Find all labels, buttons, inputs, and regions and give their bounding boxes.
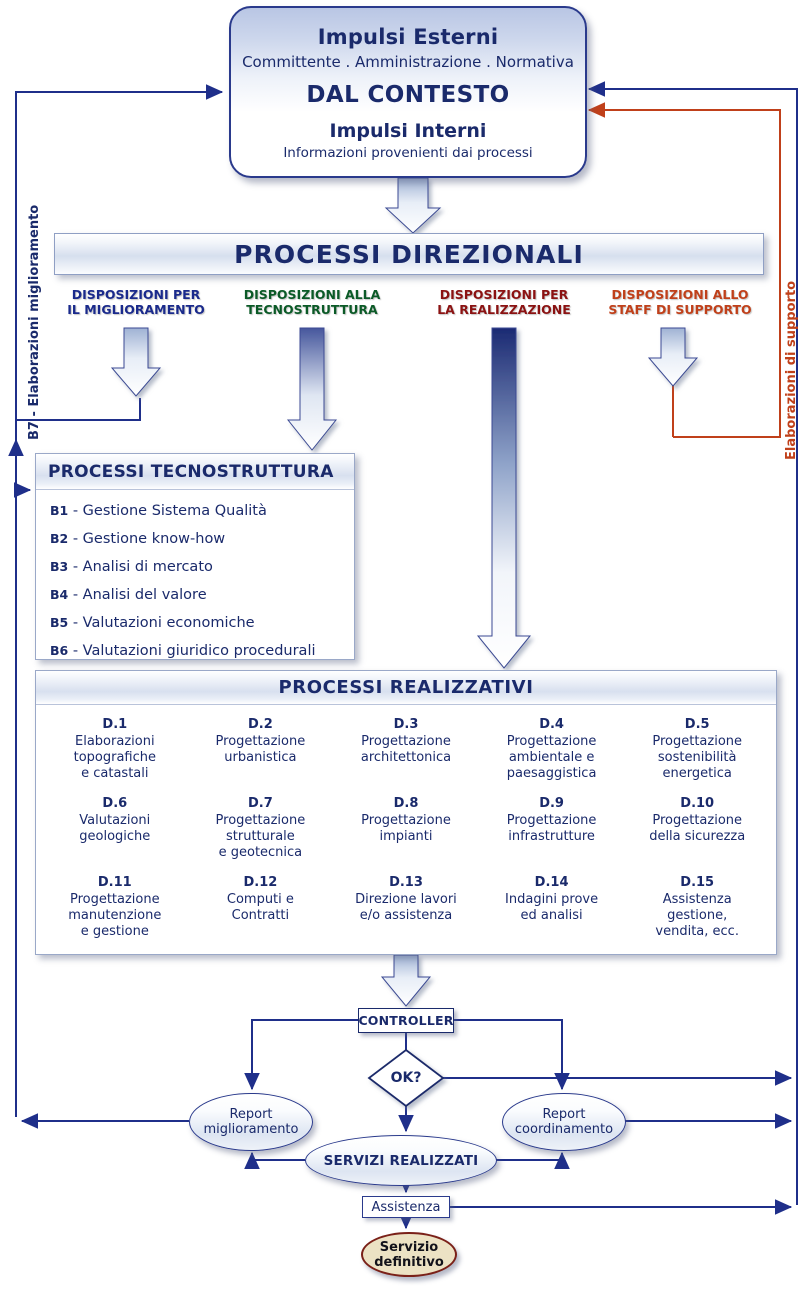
assistenza-node[interactable]: Assistenza bbox=[362, 1196, 450, 1218]
realizzativi-cell-label: Elaborazionitopografichee catastali bbox=[74, 734, 156, 781]
servizio-definitivo-label: Serviziodefinitivo bbox=[374, 1240, 444, 1270]
disposition-label-realizzazione: DISPOSIZIONI PER LA REALIZZAZIONE bbox=[420, 288, 588, 317]
report-miglioramento-label: Reportmiglioramento bbox=[204, 1107, 299, 1137]
internal-impulses-subtitle: Informazioni provenienti dai processi bbox=[231, 145, 585, 161]
realizzativi-cell-code: D.9 bbox=[481, 796, 623, 812]
realizzativi-cell-label: Progettazionedella sicurezza bbox=[649, 813, 745, 844]
servizio-definitivo-node[interactable]: Serviziodefinitivo bbox=[361, 1232, 457, 1277]
processi-realizzativi-box: PROCESSI REALIZZATIVI D.1Elaborazionitop… bbox=[35, 670, 777, 955]
tecnostruttura-item[interactable]: B2 - Gestione know-how bbox=[50, 525, 354, 553]
realizzativi-cell[interactable]: D.1Elaborazionitopografichee catastali bbox=[42, 713, 188, 792]
realizzativi-cell-label: Progettazionemanutenzionee gestione bbox=[68, 892, 161, 939]
report-coordinamento-label: Reportcoordinamento bbox=[515, 1107, 613, 1137]
decision-ok-label: OK? bbox=[369, 1050, 443, 1106]
realizzativi-cell[interactable]: D.10Progettazionedella sicurezza bbox=[624, 792, 770, 871]
realizzativi-cell-label: Progettazioneurbanistica bbox=[216, 734, 306, 765]
realizzativi-cell[interactable]: D.3Progettazionearchitettonica bbox=[333, 713, 479, 792]
controller-label: CONTROLLER bbox=[358, 1013, 453, 1028]
assistenza-label: Assistenza bbox=[372, 1200, 441, 1215]
tecnostruttura-item-code: B5 bbox=[50, 615, 68, 630]
tecnostruttura-item-code: B4 bbox=[50, 587, 68, 602]
realizzativi-cell-label: Indagini proveed analisi bbox=[505, 892, 598, 923]
report-miglioramento-node[interactable]: Reportmiglioramento bbox=[189, 1093, 313, 1151]
realizzativi-cell[interactable]: D.7Progettazionestrutturalee geotecnica bbox=[188, 792, 334, 871]
decision-ok-node[interactable]: OK? bbox=[369, 1050, 443, 1106]
realizzativi-cell[interactable]: D.11Progettazionemanutenzionee gestione bbox=[42, 871, 188, 950]
realizzativi-cell[interactable]: D.4Progettazioneambientale epaesaggistic… bbox=[479, 713, 625, 792]
servizi-realizzati-node[interactable]: SERVIZI REALIZZATI bbox=[305, 1135, 497, 1186]
realizzativi-cell[interactable]: D.5Progettazionesostenibilitàenergetica bbox=[624, 713, 770, 792]
disposition-label-staff-supporto: DISPOSIZIONI ALLO STAFF DI SUPPORTO bbox=[590, 288, 770, 317]
realizzativi-cell-code: D.11 bbox=[44, 875, 186, 891]
tecnostruttura-item-label: - Valutazioni giuridico procedurali bbox=[68, 643, 315, 659]
tecnostruttura-item-label: - Gestione Sistema Qualità bbox=[68, 503, 267, 519]
realizzativi-cell-code: D.14 bbox=[481, 875, 623, 891]
context-main-title: DAL CONTESTO bbox=[231, 82, 585, 108]
realizzativi-cell-code: D.12 bbox=[190, 875, 332, 891]
realizzativi-cell[interactable]: D.9Progettazioneinfrastrutture bbox=[479, 792, 625, 871]
realizzativi-cell-label: Progettazioneimpianti bbox=[361, 813, 451, 844]
realizzativi-cell-code: D.15 bbox=[626, 875, 768, 891]
realizzativi-cell-label: Progettazionesostenibilitàenergetica bbox=[652, 734, 742, 781]
processi-direzionali-title: PROCESSI DIREZIONALI bbox=[234, 240, 584, 269]
external-impulses-title: Impulsi Esterni bbox=[231, 25, 585, 49]
realizzativi-cell-label: Progettazionestrutturalee geotecnica bbox=[216, 813, 306, 860]
realizzativi-cell[interactable]: D.13Direzione lavorie/o assistenza bbox=[333, 871, 479, 950]
realizzativi-cell-code: D.4 bbox=[481, 717, 623, 733]
realizzativi-cell-label: Direzione lavorie/o assistenza bbox=[355, 892, 457, 923]
realizzativi-cell-label: Progettazioneinfrastrutture bbox=[507, 813, 597, 844]
realizzativi-cell-label: Valutazionigeologiche bbox=[79, 813, 150, 844]
realizzativi-cell-code: D.5 bbox=[626, 717, 768, 733]
tecnostruttura-item-code: B3 bbox=[50, 559, 68, 574]
report-coordinamento-node[interactable]: Reportcoordinamento bbox=[502, 1093, 626, 1151]
tecnostruttura-item-code: B2 bbox=[50, 531, 68, 546]
realizzativi-cell[interactable]: D.8Progettazioneimpianti bbox=[333, 792, 479, 871]
realizzativi-cell-code: D.2 bbox=[190, 717, 332, 733]
realizzativi-cell-code: D.6 bbox=[44, 796, 186, 812]
processi-direzionali-band: PROCESSI DIREZIONALI bbox=[54, 233, 764, 275]
left-loop-label: B7 - Elaborazioni miglioramento bbox=[27, 205, 42, 440]
disposition-label-tecnostruttura: DISPOSIZIONI ALLA TECNOSTRUTTURA bbox=[228, 288, 396, 317]
internal-impulses-title: Impulsi Interni bbox=[231, 120, 585, 142]
realizzativi-cell[interactable]: D.2Progettazioneurbanistica bbox=[188, 713, 334, 792]
realizzativi-cell[interactable]: D.15Assistenzagestione,vendita, ecc. bbox=[624, 871, 770, 950]
realizzativi-header: PROCESSI REALIZZATIVI bbox=[36, 671, 776, 705]
tecnostruttura-item[interactable]: B5 - Valutazioni economiche bbox=[50, 609, 354, 637]
realizzativi-cell[interactable]: D.14Indagini proveed analisi bbox=[479, 871, 625, 950]
realizzativi-cell-label: Progettazionearchitettonica bbox=[361, 734, 451, 765]
tecnostruttura-item-label: - Analisi del valore bbox=[68, 587, 206, 603]
realizzativi-cell-label: Computi eContratti bbox=[227, 892, 294, 923]
processi-tecnostruttura-box: PROCESSI TECNOSTRUTTURA B1 - Gestione Si… bbox=[35, 453, 355, 660]
realizzativi-cell-code: D.10 bbox=[626, 796, 768, 812]
tecnostruttura-item[interactable]: B1 - Gestione Sistema Qualità bbox=[50, 497, 354, 525]
tecnostruttura-item[interactable]: B6 - Valutazioni giuridico procedurali bbox=[50, 637, 354, 665]
tecnostruttura-item-code: B1 bbox=[50, 503, 68, 518]
realizzativi-cell-label: Progettazioneambientale epaesaggistica bbox=[507, 734, 597, 781]
tecnostruttura-item-label: - Analisi di mercato bbox=[68, 559, 213, 575]
realizzativi-cell-label: Assistenzagestione,vendita, ecc. bbox=[655, 892, 739, 939]
tecnostruttura-item-code: B6 bbox=[50, 643, 68, 658]
tecnostruttura-item-label: - Valutazioni economiche bbox=[68, 615, 254, 631]
realizzativi-cell-code: D.7 bbox=[190, 796, 332, 812]
servizi-realizzati-label: SERVIZI REALIZZATI bbox=[324, 1153, 479, 1169]
realizzativi-cell[interactable]: D.12Computi eContratti bbox=[188, 871, 334, 950]
realizzativi-cell-code: D.3 bbox=[335, 717, 477, 733]
diagram-canvas: Impulsi Esterni Committente . Amministra… bbox=[0, 0, 811, 1291]
tecnostruttura-header: PROCESSI TECNOSTRUTTURA bbox=[36, 454, 354, 490]
controller-node[interactable]: CONTROLLER bbox=[358, 1008, 454, 1033]
realizzativi-grid: D.1Elaborazionitopografichee catastaliD.… bbox=[36, 705, 776, 950]
tecnostruttura-item[interactable]: B4 - Analisi del valore bbox=[50, 581, 354, 609]
tecnostruttura-list: B1 - Gestione Sistema QualitàB2 - Gestio… bbox=[36, 490, 354, 665]
tecnostruttura-item[interactable]: B3 - Analisi di mercato bbox=[50, 553, 354, 581]
tecnostruttura-title: PROCESSI TECNOSTRUTTURA bbox=[48, 462, 334, 482]
disposition-label-miglioramento: DISPOSIZIONI PER IL MIGLIORAMENTO bbox=[52, 288, 220, 317]
right-loop-label: Elaborazioni di supporto bbox=[784, 281, 799, 460]
tecnostruttura-item-label: - Gestione know-how bbox=[68, 531, 225, 547]
realizzativi-cell-code: D.13 bbox=[335, 875, 477, 891]
realizzativi-cell[interactable]: D.6Valutazionigeologiche bbox=[42, 792, 188, 871]
realizzativi-title: PROCESSI REALIZZATIVI bbox=[278, 677, 533, 698]
realizzativi-cell-code: D.8 bbox=[335, 796, 477, 812]
realizzativi-cell-code: D.1 bbox=[44, 717, 186, 733]
external-impulses-subtitle: Committente . Amministrazione . Normativ… bbox=[231, 53, 585, 71]
context-box: Impulsi Esterni Committente . Amministra… bbox=[229, 6, 587, 178]
